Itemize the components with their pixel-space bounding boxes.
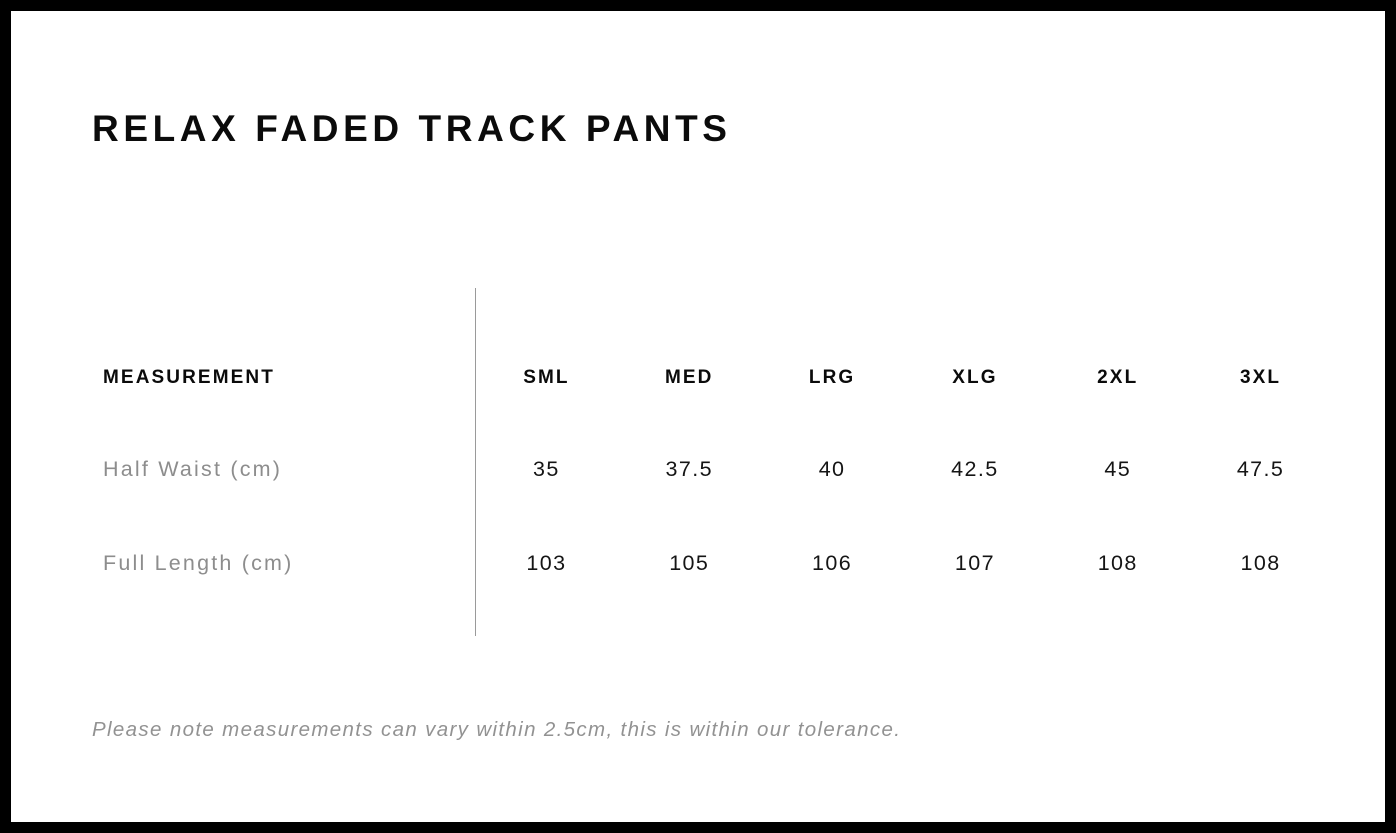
- column-header-3xl: 3XL: [1189, 367, 1332, 389]
- table-row: Full Length (cm) 103 105 106 107 108 108: [92, 543, 1332, 583]
- column-header-lrg: LRG: [761, 367, 904, 389]
- cell-half-waist-xlg: 42.5: [903, 457, 1046, 482]
- card-content: RELAX FADED TRACK PANTS MEASUREMENT SML …: [11, 11, 1385, 822]
- cell-full-length-lrg: 106: [761, 551, 904, 576]
- column-header-med: MED: [618, 367, 761, 389]
- cell-full-length-sml: 103: [475, 551, 618, 576]
- table-header-row: MEASUREMENT SML MED LRG XLG 2XL 3XL: [92, 358, 1332, 398]
- size-chart-screen: RELAX FADED TRACK PANTS MEASUREMENT SML …: [0, 0, 1396, 833]
- column-header-2xl: 2XL: [1046, 367, 1189, 389]
- row-label-full-length: Full Length (cm): [92, 551, 475, 576]
- size-chart-card: RELAX FADED TRACK PANTS MEASUREMENT SML …: [11, 11, 1385, 822]
- cell-half-waist-sml: 35: [475, 457, 618, 482]
- cell-half-waist-3xl: 47.5: [1189, 457, 1332, 482]
- cell-full-length-xlg: 107: [903, 551, 1046, 576]
- tolerance-footnote: Please note measurements can vary within…: [92, 718, 901, 742]
- cell-full-length-med: 105: [618, 551, 761, 576]
- page-title: RELAX FADED TRACK PANTS: [92, 106, 732, 152]
- column-header-sml: SML: [475, 367, 618, 389]
- row-label-half-waist: Half Waist (cm): [92, 457, 475, 482]
- cell-half-waist-lrg: 40: [761, 457, 904, 482]
- cell-half-waist-2xl: 45: [1046, 457, 1189, 482]
- column-header-xlg: XLG: [903, 367, 1046, 389]
- table-row: Half Waist (cm) 35 37.5 40 42.5 45 47.5: [92, 449, 1332, 489]
- cell-half-waist-med: 37.5: [618, 457, 761, 482]
- cell-full-length-3xl: 108: [1189, 551, 1332, 576]
- cell-full-length-2xl: 108: [1046, 551, 1189, 576]
- column-header-measurement: MEASUREMENT: [92, 367, 475, 389]
